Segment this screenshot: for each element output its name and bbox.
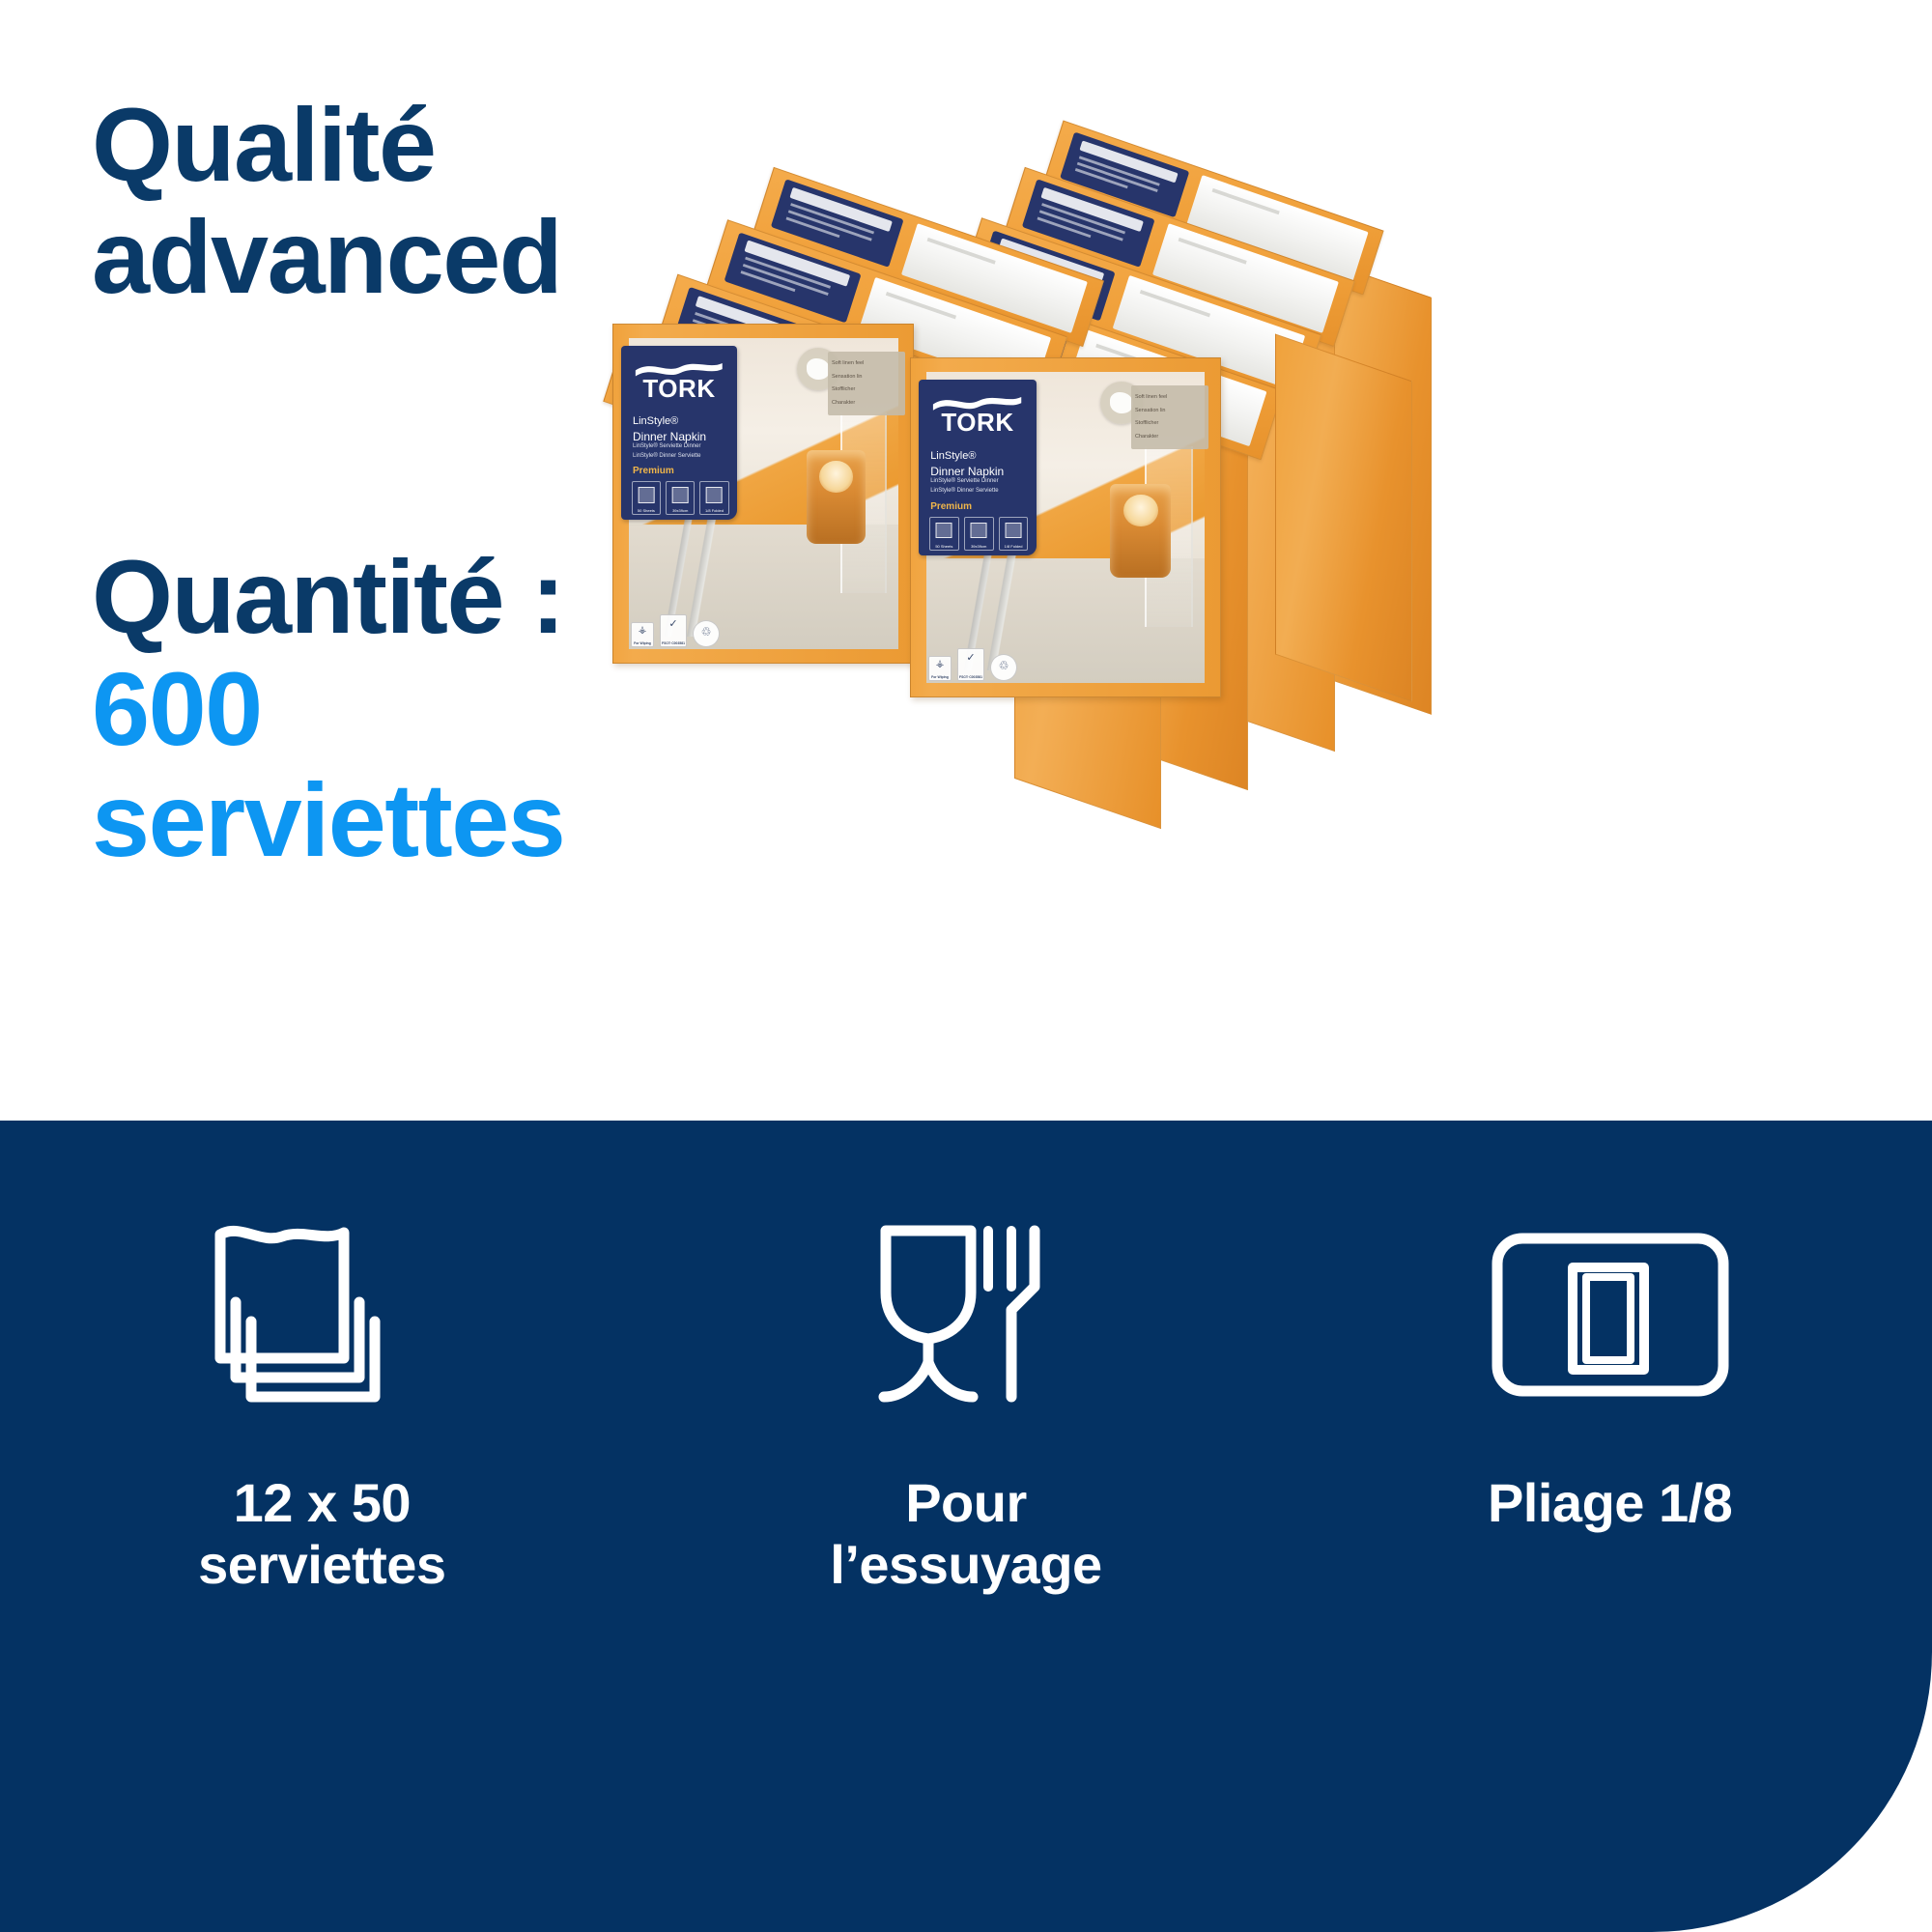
cert-glyph: ♲ — [701, 626, 712, 638]
certification-row: ⚶ For Wiping ✓ FSC® C003581 ♲ — [928, 648, 1017, 681]
hand-icon — [1110, 392, 1134, 412]
fsc-icon: ✓ FSC® C003581 — [957, 648, 984, 681]
feature-caption: Pliage 1/8 — [1488, 1472, 1732, 1534]
product-pack-front-right: TORK LinStyle® Dinner Napkin LinStyle® S… — [910, 357, 1221, 697]
spec-icon-row: 50 Sheets 39x39cm 1/8 Folded — [632, 481, 729, 514]
roundel-line-2: Sensation lin — [832, 374, 901, 381]
recycled-icon: ♲ — [693, 620, 720, 647]
product-pack-front-left: TORK LinStyle® Dinner Napkin LinStyle® S… — [612, 324, 914, 664]
tork-product-label: TORK LinStyle® Dinner Napkin LinStyle® S… — [919, 380, 1037, 555]
feature-caption-line-2: l’essuyage — [830, 1534, 1101, 1596]
size-icon: 39x39cm — [964, 517, 994, 551]
roundel-line-1: Soft linen feel — [1135, 394, 1205, 401]
product-range: LinStyle® — [633, 415, 732, 427]
product-tier: Premium — [930, 501, 972, 512]
product-bullet-2: LinStyle® Dinner Serviette — [930, 488, 1032, 496]
top-white-section: Qualité advanced Quantité : 600 serviett… — [0, 0, 1932, 1121]
glass-and-fork-icon — [865, 1217, 1067, 1410]
roundel-line-4: Charakter — [832, 400, 901, 407]
front-row-side-depth — [1275, 334, 1412, 702]
icon-container — [211, 1198, 433, 1430]
sheets-icon: 50 Sheets — [929, 517, 959, 551]
fold-icon: 1/8 Folded — [699, 481, 728, 514]
cert-label: FSC® C003581 — [958, 676, 983, 679]
cert-glyph: ✓ — [668, 619, 677, 630]
roundel-line-3: Stofflicher — [832, 386, 901, 393]
certification-row: ⚶ For Wiping ✓ FSC® C003581 ♲ — [631, 614, 720, 647]
product-bullet-2: LinStyle® Dinner Serviette — [633, 453, 732, 461]
fsc-icon: ✓ FSC® C003581 — [660, 614, 687, 647]
product-tier: Premium — [633, 466, 674, 476]
cert-glyph: ⚶ — [936, 660, 945, 669]
cert-glyph: ✓ — [966, 653, 975, 664]
feature-fold: Pliage 1/8 — [1359, 1198, 1861, 1534]
features-panel: 12 x 50 serviettes Pou — [0, 1121, 1932, 1932]
feature-caption-line-1: Pour — [830, 1472, 1101, 1534]
roundel-line-2: Sensation lin — [1135, 408, 1205, 414]
product-range: LinStyle® — [930, 450, 1032, 462]
for-wiping-icon: ⚶ For Wiping — [631, 622, 654, 647]
cert-label: FSC® C003581 — [661, 642, 686, 645]
for-wiping-icon: ⚶ For Wiping — [928, 656, 952, 681]
feature-caption-line-1: 12 x 50 — [198, 1472, 446, 1534]
candle-holder — [1110, 484, 1171, 578]
sheets-icon: 50 Sheets — [632, 481, 661, 514]
tork-wordmark: TORK — [929, 410, 1026, 435]
size-icon: 39x39cm — [666, 481, 695, 514]
roundel-line-4: Charakter — [1135, 434, 1205, 440]
product-type: Dinner Napkin — [633, 431, 732, 443]
stacked-napkins-icon — [211, 1217, 433, 1410]
icon-container — [865, 1198, 1067, 1430]
hand-icon — [807, 358, 831, 379]
cert-label: For Wiping — [632, 642, 653, 645]
napkin-fold-icon — [1490, 1217, 1731, 1410]
tork-product-label: TORK LinStyle® Dinner Napkin LinStyle® S… — [621, 346, 737, 520]
feature-caption: 12 x 50 serviettes — [198, 1472, 446, 1597]
icon-container — [1490, 1198, 1731, 1430]
roundel-line-1: Soft linen feel — [832, 360, 901, 367]
fold-icon: 1/8 Folded — [999, 517, 1029, 551]
soft-linen-tag: Soft linen feel Sensation lin Stoffliche… — [828, 352, 905, 415]
spec-icon-row: 50 Sheets 39x39cm 1/8 Folded — [929, 517, 1028, 551]
feature-caption-line-2: serviettes — [198, 1534, 446, 1596]
tork-wordmark: TORK — [632, 376, 726, 401]
feature-caption-line-1: Pliage 1/8 — [1488, 1472, 1732, 1534]
candle-holder — [807, 450, 866, 544]
product-image: TORK LinStyle® Dinner Napkin LinStyle® S… — [599, 164, 1884, 860]
product-type: Dinner Napkin — [930, 466, 1032, 478]
cert-glyph: ♲ — [999, 660, 1009, 671]
recycled-icon: ♲ — [990, 654, 1017, 681]
product-bullet-1: LinStyle® Serviette Dinner — [633, 443, 732, 451]
feature-quantity: 12 x 50 serviettes — [71, 1198, 573, 1597]
marketing-banner: Qualité advanced Quantité : 600 serviett… — [0, 0, 1932, 1932]
features-row: 12 x 50 serviettes Pou — [0, 1198, 1932, 1597]
feature-usage: Pour l’essuyage — [715, 1198, 1217, 1597]
product-bullet-1: LinStyle® Serviette Dinner — [930, 478, 1032, 486]
roundel-line-3: Stofflicher — [1135, 420, 1205, 427]
soft-linen-tag: Soft linen feel Sensation lin Stoffliche… — [1131, 385, 1208, 449]
cert-glyph: ⚶ — [639, 626, 647, 636]
cert-label: For Wiping — [929, 676, 951, 679]
feature-caption: Pour l’essuyage — [830, 1472, 1101, 1597]
